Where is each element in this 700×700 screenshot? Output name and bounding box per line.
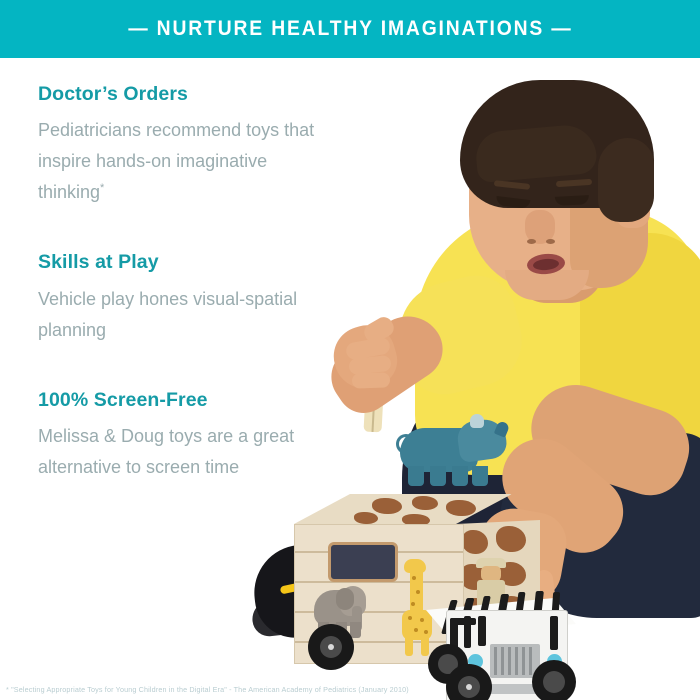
boy-hair-side bbox=[598, 138, 654, 222]
giraffe-patch bbox=[462, 530, 488, 554]
boy-nostril-right bbox=[546, 239, 555, 244]
footnote-citation: * "Selecting Appropriate Toys for Young … bbox=[6, 685, 409, 694]
elephant-leg bbox=[350, 622, 361, 638]
grille-bar bbox=[522, 647, 525, 675]
giraffe-patch bbox=[412, 496, 438, 510]
ranger-head bbox=[481, 566, 501, 581]
footnote-marker: * bbox=[100, 182, 104, 194]
giraffe-leg bbox=[405, 636, 413, 656]
giraffe-spot bbox=[412, 576, 416, 580]
wheel-hub bbox=[543, 671, 565, 693]
grille-bar bbox=[494, 647, 497, 675]
rhino-leg bbox=[430, 466, 446, 486]
giraffe-patch bbox=[496, 526, 526, 552]
giraffe-patch bbox=[446, 500, 476, 516]
giraffe-spot bbox=[411, 602, 415, 606]
giraffe-patch bbox=[354, 512, 378, 524]
grille-bar bbox=[515, 647, 518, 675]
wheel-pin bbox=[466, 684, 472, 690]
zebra-stripe bbox=[478, 616, 486, 646]
rhino-leg bbox=[452, 466, 468, 486]
promo-infographic-page: — NURTURE HEALTHY IMAGINATIONS — Doctor’… bbox=[0, 0, 700, 700]
zebra-stripe bbox=[450, 618, 476, 625]
zebra-stripe bbox=[550, 616, 558, 650]
rhino-leg bbox=[472, 466, 488, 486]
giraffe-leg bbox=[421, 636, 429, 656]
giraffe-spot bbox=[408, 616, 412, 620]
grille-bar bbox=[501, 647, 504, 675]
wheel-pin bbox=[328, 644, 334, 650]
giraffe-patch bbox=[372, 498, 402, 514]
grille-bar bbox=[508, 647, 511, 675]
giraffe-shape-cutout bbox=[400, 562, 434, 654]
rhino-leg bbox=[408, 466, 424, 486]
rhino-shape-cutout bbox=[328, 542, 398, 582]
boy-hair-fringe bbox=[474, 123, 598, 183]
giraffe-spot bbox=[414, 628, 418, 632]
grille-bar bbox=[529, 647, 532, 675]
giraffe-spot bbox=[416, 590, 420, 594]
product-photo bbox=[250, 58, 700, 700]
giraffe-spot bbox=[424, 630, 428, 634]
toy-rhino-shape bbox=[400, 414, 506, 486]
truck-grille bbox=[490, 644, 540, 678]
header-banner: — NURTURE HEALTHY IMAGINATIONS — bbox=[0, 0, 700, 58]
boy-nostril-left bbox=[527, 239, 536, 244]
rhino-ear bbox=[470, 414, 484, 428]
giraffe-spot bbox=[420, 618, 424, 622]
boy-finger bbox=[352, 372, 391, 388]
elephant-ear bbox=[336, 588, 354, 610]
giraffe-head bbox=[404, 559, 426, 573]
header-title: — NURTURE HEALTHY IMAGINATIONS — bbox=[128, 17, 572, 41]
